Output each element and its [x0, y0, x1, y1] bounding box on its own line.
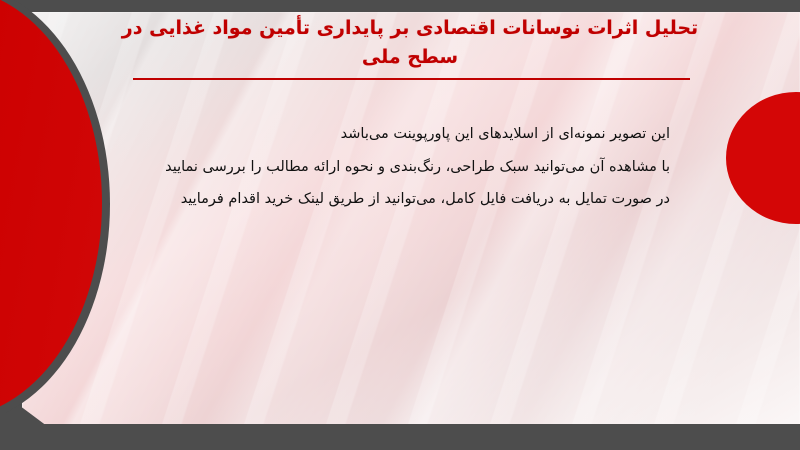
slide-body-container: این تصویر نمونه‌ای از اسلایدهای این پاور…: [110, 118, 670, 216]
presentation-slide: تحلیل اثرات نوسانات اقتصادی بر پایداری ت…: [0, 0, 800, 450]
slide-title: تحلیل اثرات نوسانات اقتصادی بر پایداری ت…: [110, 14, 710, 71]
title-underline-rule: [133, 78, 690, 80]
bottom-dark-band: [0, 424, 800, 450]
body-line-3: در صورت تمایل به دریافت فایل کامل، می‌تو…: [110, 183, 670, 216]
slide-title-container: تحلیل اثرات نوسانات اقتصادی بر پایداری ت…: [110, 14, 710, 71]
body-line-1: این تصویر نمونه‌ای از اسلایدهای این پاور…: [110, 118, 670, 151]
slide-content-panel: [22, 12, 800, 426]
body-line-2: با مشاهده آن می‌توانید سبک طراحی، رنگ‌بن…: [110, 151, 670, 184]
